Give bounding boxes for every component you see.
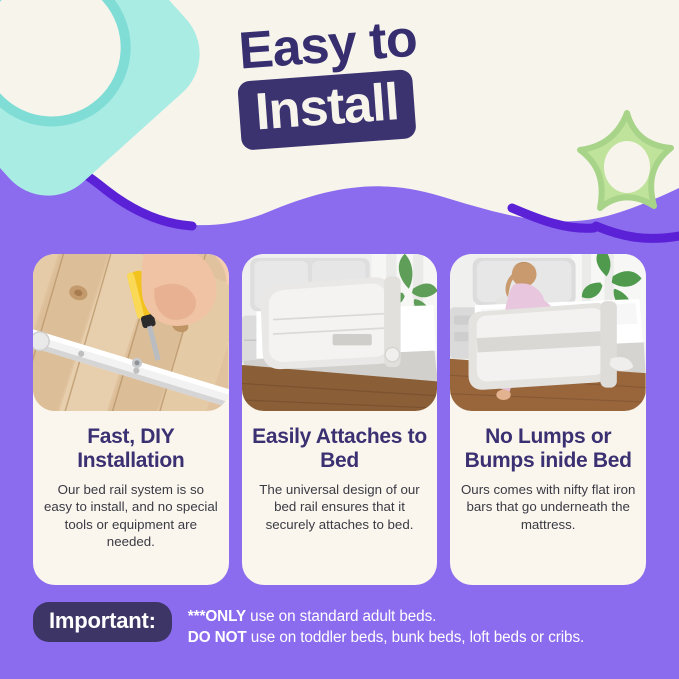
- card-body: Ours comes with nifty flat iron bars tha…: [460, 481, 636, 533]
- important-line-1-lead: ***ONLY: [188, 608, 246, 625]
- important-banner: Important: ***ONLY use on standard adult…: [33, 602, 646, 648]
- feature-card: No Lumps or Bumps inide Bed Ours comes w…: [450, 254, 646, 585]
- important-line-2: DO NOT use on toddler beds, bunk beds, l…: [188, 627, 584, 648]
- important-line-2-lead: DO NOT: [188, 629, 247, 646]
- header: Easy to Install: [0, 0, 679, 205]
- important-badge: Important:: [33, 602, 172, 642]
- feature-photo-1: [33, 254, 229, 411]
- feature-card: Fast, DIY Installation Our bed rail syst…: [33, 254, 229, 585]
- feature-card-list: Fast, DIY Installation Our bed rail syst…: [33, 254, 646, 585]
- card-title: Fast, DIY Installation: [41, 425, 221, 472]
- important-text: ***ONLY use on standard adult beds. DO N…: [188, 602, 584, 648]
- feature-photo-2: [242, 254, 438, 411]
- card-body: Our bed rail system is so easy to instal…: [43, 481, 219, 550]
- important-line-1: ***ONLY use on standard adult beds.: [188, 606, 584, 627]
- title-highlight-box: Install: [237, 69, 417, 151]
- card-title: No Lumps or Bumps inide Bed: [458, 425, 638, 472]
- feature-card: Easily Attaches to Bed The universal des…: [242, 254, 438, 585]
- title-line-2: Install: [253, 76, 400, 138]
- important-line-2-rest: use on toddler beds, bunk beds, loft bed…: [247, 629, 585, 646]
- page-title: Easy to Install: [233, 13, 424, 151]
- card-body: The universal design of our bed rail ens…: [252, 481, 428, 533]
- feature-photo-3: [450, 254, 646, 411]
- card-title: Easily Attaches to Bed: [250, 425, 430, 472]
- title-line-1: Easy to: [237, 13, 418, 78]
- infographic-poster: Easy to Install: [0, 0, 679, 679]
- important-line-1-rest: use on standard adult beds.: [246, 608, 436, 625]
